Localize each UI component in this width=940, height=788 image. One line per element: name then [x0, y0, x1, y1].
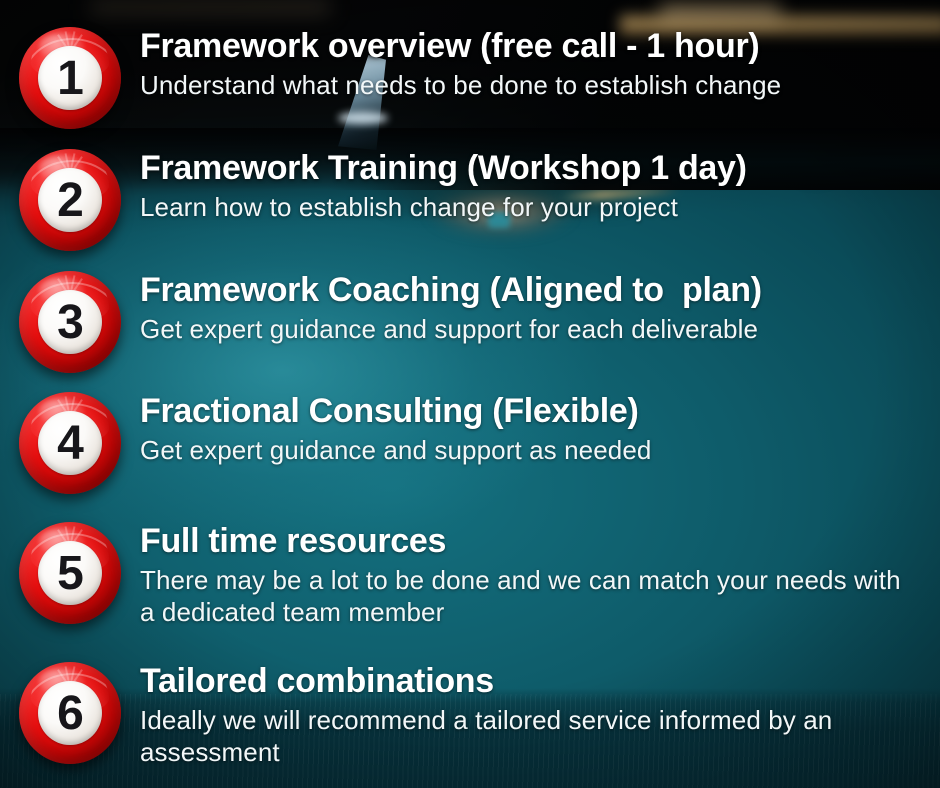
list-item[interactable]: 5 Full time resources There may be a lot… [0, 522, 940, 629]
billiard-ball-icon: 2 [19, 149, 121, 251]
ball-number: 1 [57, 55, 83, 103]
billiard-ball-icon: 6 [19, 662, 121, 764]
list-item-title: Framework overview (free call - 1 hour) [140, 27, 920, 65]
ball-shadow [28, 486, 112, 502]
list-item-subtitle: Get expert guidance and support as neede… [140, 434, 920, 466]
list-item-text: Tailored combinations Ideally we will re… [140, 662, 940, 769]
billiard-ball-icon: 1 [19, 27, 121, 129]
list-item-text: Framework overview (free call - 1 hour) … [140, 27, 940, 101]
billiard-ball-6: 6 [0, 662, 140, 764]
list-item-title: Framework Coaching (Aligned to plan) [140, 271, 920, 309]
ball-face: 5 [38, 541, 102, 605]
list-item-title: Fractional Consulting (Flexible) [140, 392, 920, 430]
list-item-title: Framework Training (Workshop 1 day) [140, 149, 920, 187]
ball-face: 2 [38, 168, 102, 232]
billiard-ball-3: 3 [0, 271, 140, 373]
list-item-subtitle: Ideally we will recommend a tailored ser… [140, 704, 920, 768]
ball-shadow [28, 365, 112, 381]
list-item-text: Full time resources There may be a lot t… [140, 522, 940, 629]
ball-face: 1 [38, 46, 102, 110]
ball-number: 3 [57, 299, 83, 347]
billiard-ball-4: 4 [0, 392, 140, 494]
ball-face: 3 [38, 290, 102, 354]
billiard-ball-1: 1 [0, 27, 140, 129]
service-tiers-graphic: 1 Framework overview (free call - 1 hour… [0, 0, 940, 788]
billiard-ball-2: 2 [0, 149, 140, 251]
ball-number: 4 [57, 420, 83, 468]
list-item-subtitle: Get expert guidance and support for each… [140, 313, 920, 345]
list-item[interactable]: 6 Tailored combinations Ideally we will … [0, 662, 940, 769]
billiard-ball-icon: 3 [19, 271, 121, 373]
ball-number: 6 [57, 690, 83, 738]
ball-number: 2 [57, 177, 83, 225]
service-tier-list: 1 Framework overview (free call - 1 hour… [0, 0, 940, 788]
ball-face: 6 [38, 681, 102, 745]
billiard-ball-5: 5 [0, 522, 140, 624]
ball-shadow [28, 616, 112, 632]
list-item-subtitle: There may be a lot to be done and we can… [140, 564, 920, 628]
list-item[interactable]: 3 Framework Coaching (Aligned to plan) G… [0, 271, 940, 373]
list-item-text: Framework Coaching (Aligned to plan) Get… [140, 271, 940, 345]
list-item-text: Fractional Consulting (Flexible) Get exp… [140, 392, 940, 466]
ball-shadow [28, 243, 112, 259]
billiard-ball-icon: 4 [19, 392, 121, 494]
ball-shadow [28, 756, 112, 772]
list-item-title: Tailored combinations [140, 662, 920, 700]
ball-number: 5 [57, 550, 83, 598]
list-item-subtitle: Understand what needs to be done to esta… [140, 69, 920, 101]
list-item-subtitle: Learn how to establish change for your p… [140, 191, 920, 223]
list-item[interactable]: 2 Framework Training (Workshop 1 day) Le… [0, 149, 940, 251]
list-item-title: Full time resources [140, 522, 920, 560]
billiard-ball-icon: 5 [19, 522, 121, 624]
ball-face: 4 [38, 411, 102, 475]
list-item[interactable]: 4 Fractional Consulting (Flexible) Get e… [0, 392, 940, 494]
ball-shadow [28, 121, 112, 137]
list-item-text: Framework Training (Workshop 1 day) Lear… [140, 149, 940, 223]
list-item[interactable]: 1 Framework overview (free call - 1 hour… [0, 27, 940, 129]
